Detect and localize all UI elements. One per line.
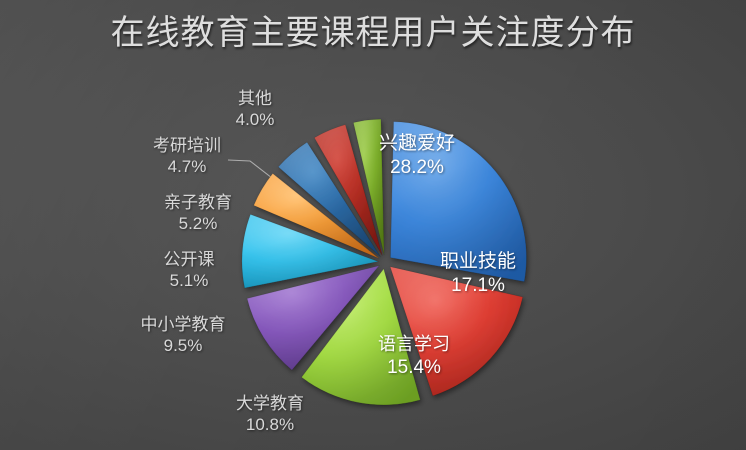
slice-name: 考研培训 <box>153 136 221 155</box>
pie-chart <box>0 0 746 450</box>
slice-name: 职业技能 <box>440 251 516 272</box>
slice-value: 4.7% <box>135 156 239 177</box>
slice-value: 5.2% <box>146 213 250 234</box>
slice-value: 9.5% <box>118 335 248 356</box>
slice-label-xingquaihao: 兴趣爱好 28.2% <box>358 132 476 180</box>
slice-name: 中小学教育 <box>141 315 226 334</box>
slice-label-kaoyanpeixun: 考研培训 4.7% <box>135 135 239 177</box>
slice-name: 亲子教育 <box>164 193 232 212</box>
slice-value: 17.1% <box>424 274 532 298</box>
slice-value: 5.1% <box>137 270 241 291</box>
slice-name: 公开课 <box>164 250 215 269</box>
slice-label-gongkaike: 公开课 5.1% <box>137 249 241 291</box>
slice-value: 28.2% <box>358 156 476 180</box>
slice-value: 4.0% <box>209 109 301 130</box>
slice-value: 15.4% <box>362 356 466 379</box>
slice-value: 10.8% <box>205 414 335 435</box>
slice-label-zhongxiaoxuejiaoyu: 中小学教育 9.5% <box>118 314 248 356</box>
slice-label-daxuejiaoyu: 大学教育 10.8% <box>205 393 335 435</box>
chart-canvas: 在线教育主要课程用户关注度分布 <box>0 0 746 450</box>
pie-svg <box>0 0 746 450</box>
slice-label-zhiyejineng: 职业技能 17.1% <box>424 250 532 298</box>
slice-name: 大学教育 <box>236 394 304 413</box>
slice-label-qinzijiaoyu: 亲子教育 5.2% <box>146 192 250 234</box>
slice-name: 其他 <box>238 89 272 108</box>
slice-label-yuyanxuexi: 语言学习 15.4% <box>362 333 466 379</box>
slice-name: 语言学习 <box>378 334 450 354</box>
slice-name: 兴趣爱好 <box>379 133 455 154</box>
slice-label-qita: 其他 4.0% <box>209 88 301 130</box>
